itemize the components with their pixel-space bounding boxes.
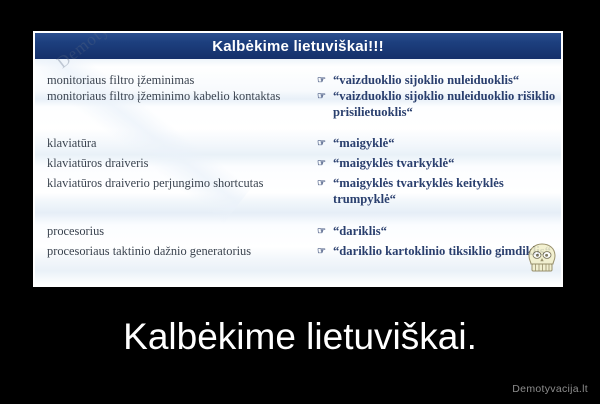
scan-title-bar: Kalbėkime lietuviškai!!! bbox=[35, 33, 561, 59]
translation-cell: ☞ “maigyklė“ bbox=[317, 136, 561, 152]
term-label: klaviatūros draiveris bbox=[35, 156, 317, 171]
pointing-hand-icon: ☞ bbox=[317, 225, 326, 239]
term-label: klaviatūros draiverio perjungimo shortcu… bbox=[35, 176, 317, 191]
term-label: klaviatūra bbox=[35, 136, 317, 151]
pointing-hand-icon: ☞ bbox=[317, 245, 326, 259]
translation-cell: ☞ “maigyklės tvarkyklė“ bbox=[317, 156, 561, 172]
table-row: procesorius ☞ “dariklis“ bbox=[35, 224, 561, 240]
term-label: procesorius bbox=[35, 224, 317, 239]
pointing-hand-icon: ☞ bbox=[317, 74, 326, 88]
pointing-hand-icon: ☞ bbox=[317, 90, 326, 104]
footer-credit: Demotyvacija.lt bbox=[512, 383, 588, 395]
scan-title-text: Kalbėkime lietuviškai!!! bbox=[212, 38, 384, 55]
term-label: monitoriaus filtro įžeminimo kabelio kon… bbox=[35, 89, 317, 104]
skull-doodle-icon bbox=[522, 242, 562, 274]
translation-cell: ☞ “maigyklės tvarkyklės keityklės trumpy… bbox=[317, 176, 561, 207]
scanned-page-panel: Kalbėkime lietuviškai!!! monitoriaus fil… bbox=[33, 31, 563, 287]
translation-label: “maigyklė“ bbox=[333, 136, 561, 152]
translation-label: “vaizduoklio sijoklio nuleiduoklis“ bbox=[333, 73, 561, 89]
pointing-hand-icon: ☞ bbox=[317, 157, 326, 171]
poster-caption: Kalbėkime lietuviškai. bbox=[0, 316, 600, 358]
table-row: klaviatūros draiverio perjungimo shortcu… bbox=[35, 176, 561, 207]
glossary-table: monitoriaus filtro įžeminimas ☞ “vaizduo… bbox=[35, 59, 561, 285]
pointing-hand-icon: ☞ bbox=[317, 137, 326, 151]
table-row: klaviatūra ☞ “maigyklė“ bbox=[35, 136, 561, 152]
translation-cell: ☞ “dariklis“ bbox=[317, 224, 561, 240]
translation-label: “dariklis“ bbox=[333, 224, 561, 240]
translation-label: “maigyklės tvarkyklė“ bbox=[333, 156, 561, 172]
term-label: procesoriaus taktinio dažnio generatoriu… bbox=[35, 244, 317, 259]
table-row: klaviatūros draiveris ☞ “maigyklės tvark… bbox=[35, 156, 561, 172]
translation-label: “vaizduoklio sijoklio nuleiduoklio rišik… bbox=[333, 89, 561, 120]
translation-cell: ☞ “vaizduoklio sijoklio nuleiduoklis“ bbox=[317, 73, 561, 89]
table-row: procesoriaus taktinio dažnio generatoriu… bbox=[35, 244, 561, 260]
translation-label: “maigyklės tvarkyklės keityklės trumpykl… bbox=[333, 176, 561, 207]
table-row: monitoriaus filtro įžeminimo kabelio kon… bbox=[35, 89, 561, 120]
translation-cell: ☞ “vaizduoklio sijoklio nuleiduoklio riš… bbox=[317, 89, 561, 120]
table-row: monitoriaus filtro įžeminimas ☞ “vaizduo… bbox=[35, 73, 561, 89]
pointing-hand-icon: ☞ bbox=[317, 177, 326, 191]
term-label: monitoriaus filtro įžeminimas bbox=[35, 73, 317, 88]
